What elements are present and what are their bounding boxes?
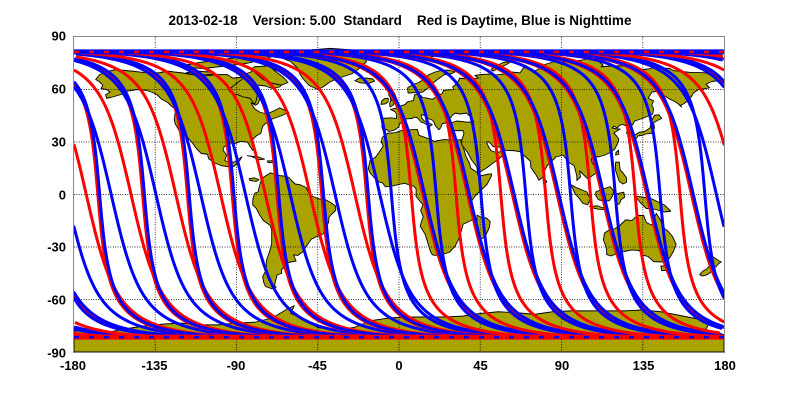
x-tick-label: 135 — [633, 358, 655, 373]
x-tick-label: 45 — [473, 358, 487, 373]
x-tick-label: -135 — [141, 358, 167, 373]
ground-track-figure: 2013-02-18 Version: 5.00 Standard Red is… — [0, 0, 800, 400]
x-axis-labels: -180-135-90-4504590135180 — [0, 0, 800, 400]
x-tick-label: 0 — [395, 358, 402, 373]
x-tick-label: 180 — [714, 358, 736, 373]
x-tick-label: -180 — [60, 358, 86, 373]
x-tick-label: -45 — [308, 358, 327, 373]
x-tick-label: -90 — [227, 358, 246, 373]
x-tick-label: 90 — [555, 358, 569, 373]
